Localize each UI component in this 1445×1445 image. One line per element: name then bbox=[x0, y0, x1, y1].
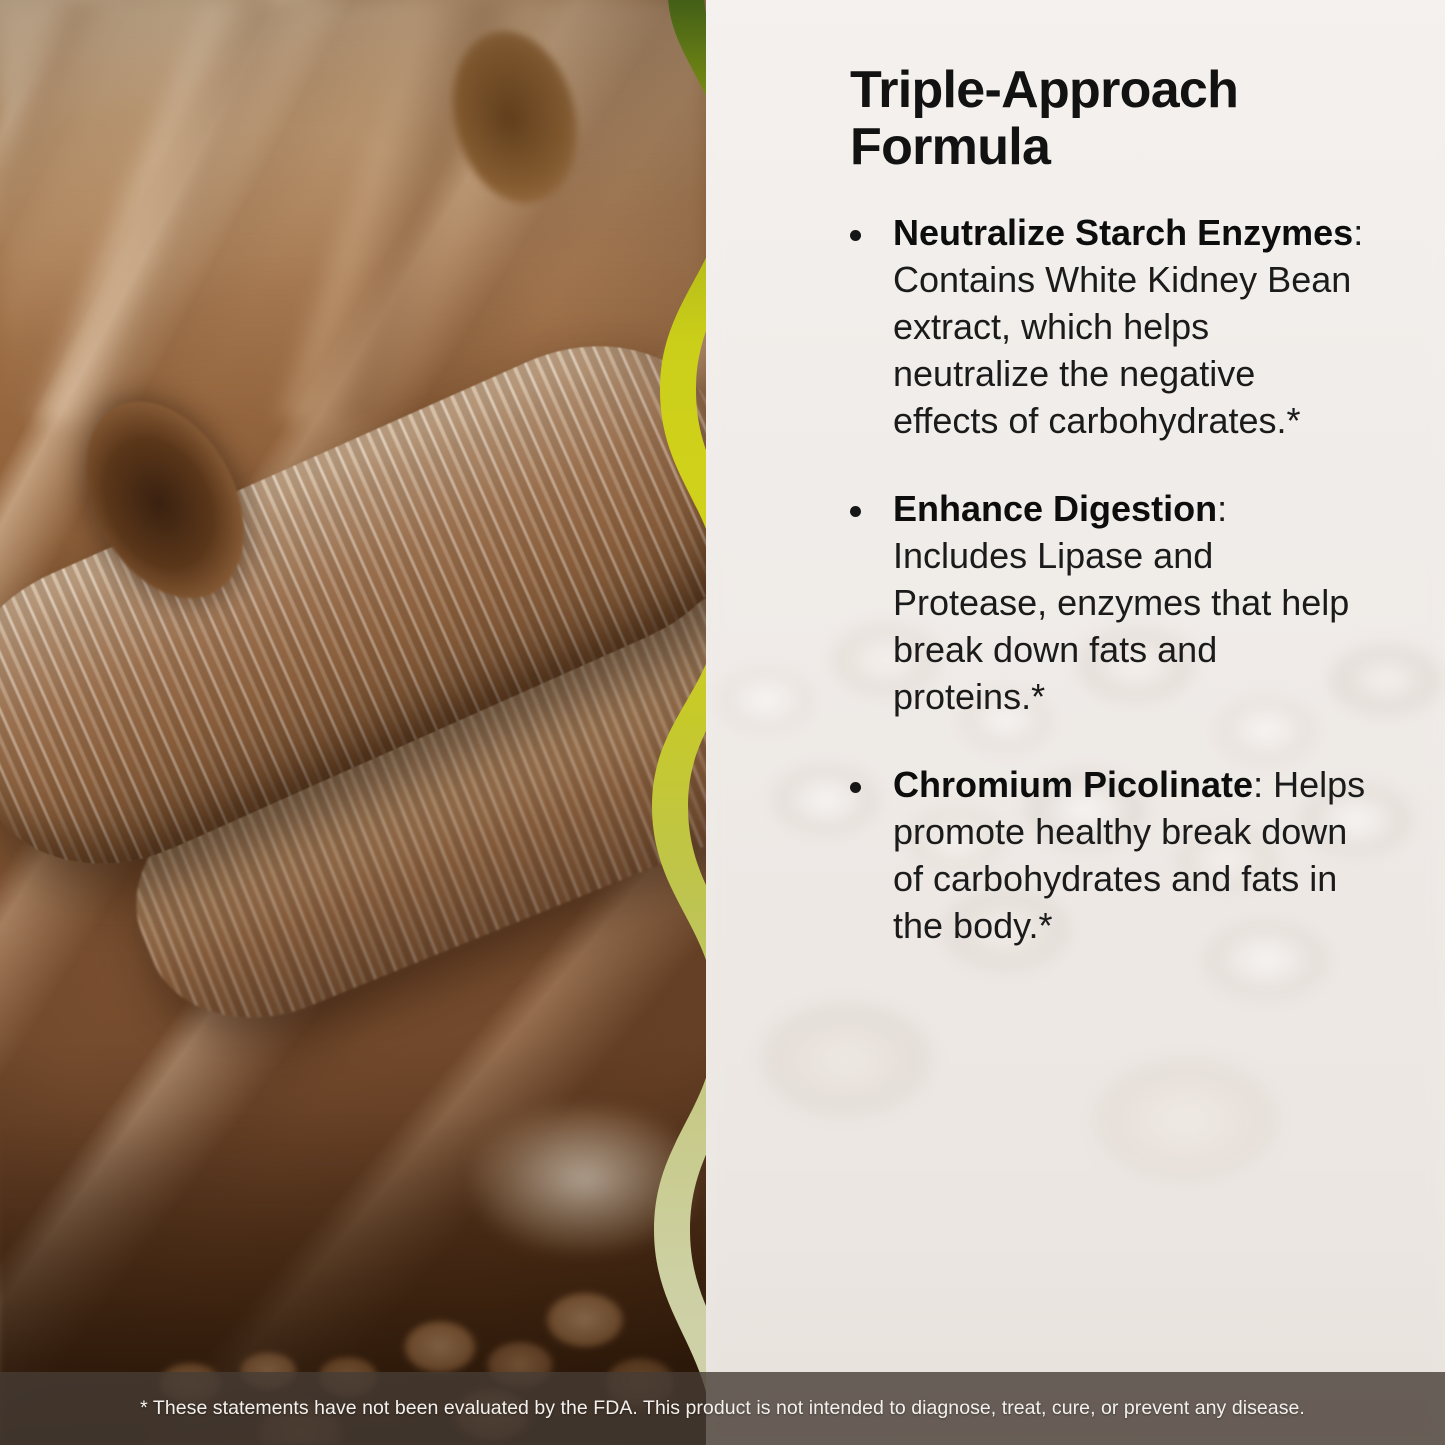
bullet-dot-icon bbox=[850, 230, 861, 241]
benefit-lead: Neutralize Starch Enzymes bbox=[893, 212, 1353, 253]
page-title: Triple-Approach Formula bbox=[850, 62, 1380, 176]
copy-block: Triple-Approach Formula Neutralize Starc… bbox=[706, 0, 1445, 1445]
benefit-item-enhance-digestion: Enhance Digestion: Includes Lipase and P… bbox=[850, 486, 1370, 720]
benefit-separator: : bbox=[1253, 764, 1273, 805]
benefit-item-neutralize-starch-enzymes: Neutralize Starch Enzymes: Contains Whit… bbox=[850, 210, 1370, 444]
benefit-lead: Chromium Picolinate bbox=[893, 764, 1253, 805]
disclaimer-bar: * These statements have not been evaluat… bbox=[0, 1372, 1445, 1445]
benefit-item-chromium-picolinate: Chromium Picolinate: Helps promote healt… bbox=[850, 762, 1370, 949]
benefit-separator: : bbox=[1217, 488, 1227, 529]
bullet-dot-icon bbox=[850, 506, 861, 517]
content-pane: Triple-Approach Formula Neutralize Starc… bbox=[706, 0, 1445, 1445]
benefit-body: Includes Lipase and Protease, enzymes th… bbox=[893, 535, 1349, 716]
product-infographic: Triple-Approach Formula Neutralize Starc… bbox=[0, 0, 1445, 1445]
benefit-body: Contains White Kidney Bean extract, whic… bbox=[893, 259, 1351, 440]
benefit-lead: Enhance Digestion bbox=[893, 488, 1217, 529]
photo-vignette bbox=[0, 0, 706, 1445]
pasta-photo bbox=[0, 0, 706, 1445]
bullet-dot-icon bbox=[850, 782, 861, 793]
fda-disclaimer-text: * These statements have not been evaluat… bbox=[140, 1397, 1305, 1420]
benefit-list: Neutralize Starch Enzymes: Contains Whit… bbox=[850, 210, 1383, 949]
benefit-separator: : bbox=[1353, 212, 1363, 253]
